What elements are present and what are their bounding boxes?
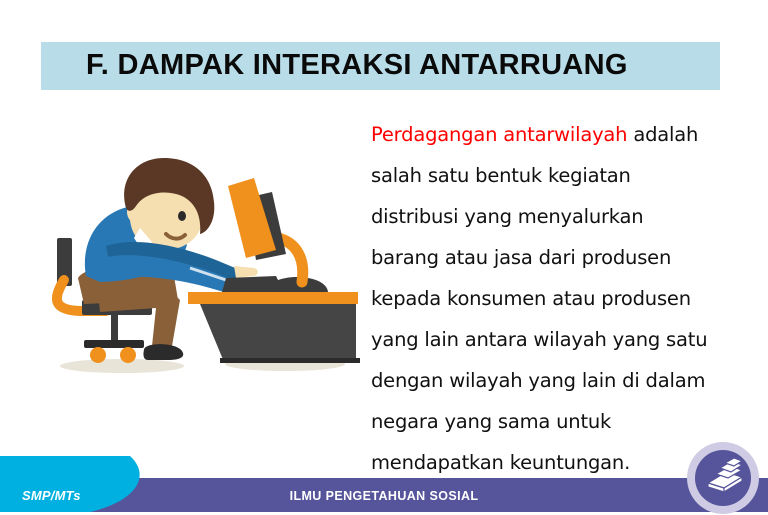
- body-line: distribusi yang menyalurkan: [371, 196, 761, 237]
- person-shoe: [143, 344, 183, 360]
- person-hand-back: [234, 266, 258, 278]
- footer-accent-swoosh: [0, 456, 300, 512]
- body-line: salah satu bentuk kegiatan: [371, 155, 761, 196]
- stacked-books-badge: [686, 441, 760, 515]
- desk-top: [188, 292, 358, 304]
- man-working-at-desk-illustration: [40, 150, 370, 400]
- chair-wheel: [90, 347, 106, 363]
- highlighted-term: Perdagangan antarwilayah: [371, 123, 627, 146]
- chair-base: [84, 340, 144, 348]
- body-line: barang atau jasa dari produsen: [371, 237, 761, 278]
- person-eye: [178, 211, 186, 221]
- title-band: F. DAMPAK INTERAKSI ANTARRUANG: [41, 42, 720, 90]
- chair-wheel: [120, 347, 136, 363]
- body-line-text: adalah: [627, 123, 698, 146]
- body-line: dengan wilayah yang lain di dalam: [371, 360, 761, 401]
- chair-column: [111, 313, 118, 343]
- body-line: kepada konsumen atau produsen: [371, 278, 761, 319]
- body-line: negara yang sama untuk: [371, 401, 761, 442]
- footer-subject-label: ILMU PENGETAHUAN SOSIAL: [0, 489, 768, 503]
- body-paragraph: Perdagangan antarwilayah adalah salah sa…: [371, 114, 761, 483]
- body-line: yang lain antara wilayah yang satu: [371, 319, 761, 360]
- desk-foot: [220, 358, 360, 363]
- page-title: F. DAMPAK INTERAKSI ANTARRUANG: [86, 49, 628, 82]
- body-line: Perdagangan antarwilayah adalah: [371, 114, 761, 155]
- desk-body: [200, 304, 356, 362]
